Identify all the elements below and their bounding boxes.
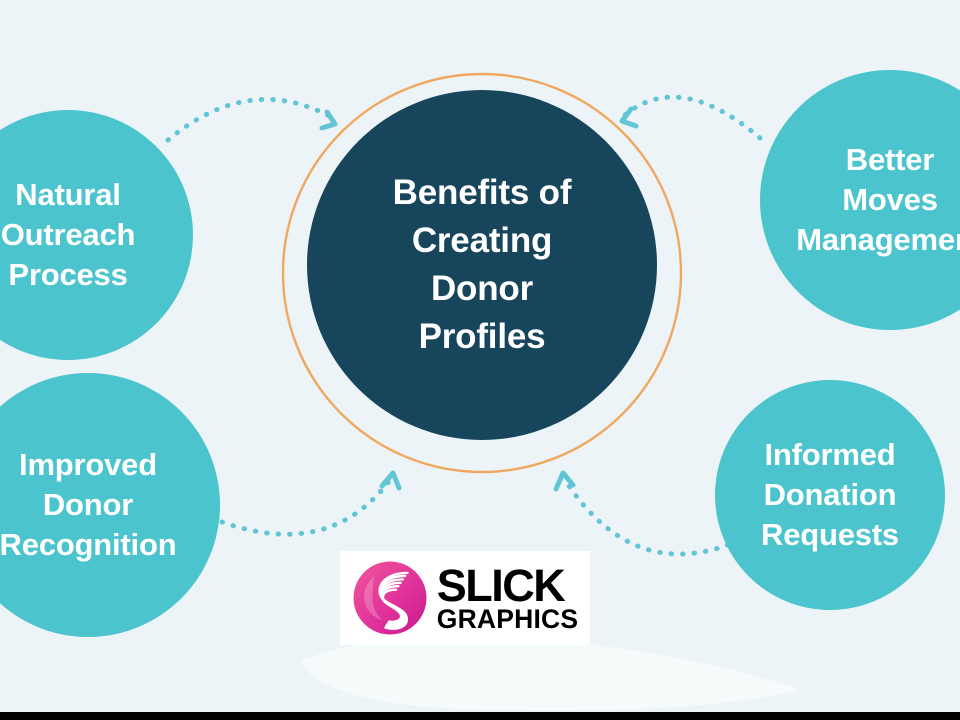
connector-arc-bottom-right [565,480,728,554]
node-informed-donation-requests[interactable]: Informed Donation Requests [715,380,945,610]
logo-word-slick: SLICK [437,565,578,606]
connector-arc-top-right [625,97,760,138]
diagram-canvas: Natural Outreach Process Improved Donor … [0,0,960,720]
connector-arc-bottom-left [222,480,390,534]
bottom-black-bar [0,712,960,720]
connector-arc-top-left [168,99,333,140]
arrowhead-bottom-left [382,473,399,488]
node-label-natural-outreach-process: Natural Outreach Process [1,175,136,294]
arrowhead-top-left [322,112,335,128]
node-label-improved-donor-recognition: Improved Donor Recognition [0,445,176,564]
center-hub-title: Benefits of Creating Donor Profiles [393,169,572,361]
logo-word-graphics: GRAPHICS [437,607,578,631]
center-hub-circle[interactable]: Benefits of Creating Donor Profiles [307,90,657,440]
node-label-better-moves-management: Better Moves Management [796,140,960,259]
node-label-informed-donation-requests: Informed Donation Requests [761,435,899,554]
arrowhead-top-right [622,109,636,126]
brand-logo: SLICK GRAPHICS [340,551,590,645]
slick-graphics-s-monogram-icon [352,560,428,636]
